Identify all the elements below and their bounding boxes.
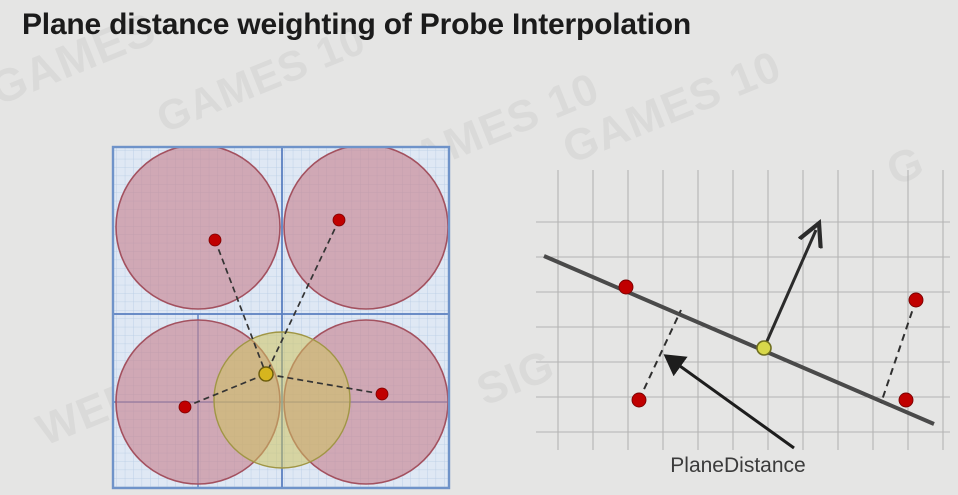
- probe-radius-top-left: [116, 145, 280, 309]
- plane-distance-diagram: PlaneDistance: [536, 160, 956, 490]
- probe-point-top-left: [209, 234, 221, 246]
- plane-line: [544, 256, 934, 424]
- probe-grid-diagram: [108, 142, 454, 494]
- probe-point-above-right: [909, 293, 923, 307]
- probe-point-on-plane: [619, 280, 633, 294]
- plane-distance-label: PlaneDistance: [670, 454, 805, 477]
- background-grid: [536, 170, 950, 450]
- plane-distance-dashed-left: [639, 310, 681, 400]
- watermark-text: GAMES 10: [556, 42, 788, 175]
- plane-normal-arrow: [764, 230, 816, 348]
- slide-root: GAMES GAMES 10 GAMES 10 GAMES 10 G WEB S…: [0, 0, 958, 495]
- page-title: Plane distance weighting of Probe Interp…: [22, 8, 691, 42]
- sample-influence-region: [214, 332, 350, 468]
- sample-point-on-plane: [757, 341, 771, 355]
- probe-point-bottom-right: [376, 388, 388, 400]
- plane-distance-callout-arrow: [666, 356, 794, 448]
- probe-point-below-right: [899, 393, 913, 407]
- probe-point-top-right: [333, 214, 345, 226]
- probe-point-below-left: [632, 393, 646, 407]
- plane-distance-dashed-right: [881, 300, 916, 403]
- probe-point-bottom-left: [179, 401, 191, 413]
- sample-point: [259, 367, 273, 381]
